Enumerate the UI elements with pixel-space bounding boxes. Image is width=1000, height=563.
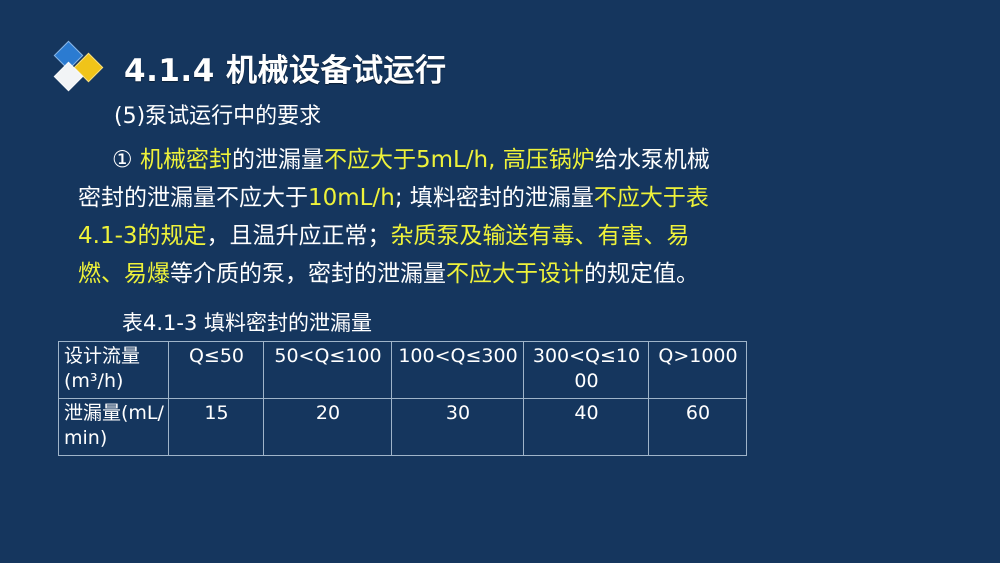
table-caption: 表4.1-3 填料密封的泄漏量 — [122, 307, 372, 337]
table-data-cell-3: 30 — [392, 399, 524, 456]
paragraph-run-6: ; 填料密封的泄漏量 — [395, 185, 594, 211]
page-title: 4.1.4 机械设备试运行 — [124, 45, 447, 90]
paragraph-run-5: 10mL/h — [308, 185, 395, 211]
table-data-cell-4: 40 — [524, 399, 649, 456]
table-data-label: 泄漏量(mL/min) — [59, 399, 169, 456]
table-header-cell-4: 300<Q≤1000 — [524, 342, 649, 399]
paragraph-run-1: 机械密封 — [140, 147, 232, 173]
paragraph-run-3: 不应大于5mL/h, 高压锅炉 — [324, 147, 595, 173]
paragraph-run-12: 的规定值。 — [584, 261, 699, 287]
table-header-cell-5: Q>1000 — [649, 342, 747, 399]
paragraph-run-0: ① — [112, 147, 140, 173]
sub-heading: (5)泵试运行中的要求 — [78, 103, 938, 131]
three-diamond-logo-icon — [52, 40, 110, 94]
table-header-label: 设计流量(m³/h) — [59, 342, 169, 399]
table-row-header: 设计流量(m³/h) Q≤50 50<Q≤100 100<Q≤300 300<Q… — [59, 342, 747, 399]
body-content: (5)泵试运行中的要求 ① 机械密封的泄漏量不应大于5mL/h, 高压锅炉给水泵… — [78, 103, 938, 293]
leakage-table: 设计流量(m³/h) Q≤50 50<Q≤100 100<Q≤300 300<Q… — [58, 341, 747, 456]
table-row-data: 泄漏量(mL/min) 15 20 30 40 60 — [59, 399, 747, 456]
table-data-cell-2: 20 — [264, 399, 392, 456]
paragraph-run-2: 的泄漏量 — [232, 147, 324, 173]
table-header-cell-3: 100<Q≤300 — [392, 342, 524, 399]
paragraph-run-8: ，且温升应正常； — [207, 223, 391, 249]
table-header-cell-1: Q≤50 — [169, 342, 264, 399]
table-data-cell-1: 15 — [169, 399, 264, 456]
table-header-cell-2: 50<Q≤100 — [264, 342, 392, 399]
paragraph-run-10: 等介质的泵，密封的泄漏量 — [170, 261, 446, 287]
paragraph-run-11: 不应大于设计 — [446, 261, 584, 287]
slide-canvas: 4.1.4 机械设备试运行 (5)泵试运行中的要求 ① 机械密封的泄漏量不应大于… — [0, 0, 1000, 563]
table-data-cell-5: 60 — [649, 399, 747, 456]
requirement-paragraph: ① 机械密封的泄漏量不应大于5mL/h, 高压锅炉给水泵机械密封的泄漏量不应大于… — [78, 141, 723, 293]
slide-title-bar: 4.1.4 机械设备试运行 — [52, 40, 447, 94]
